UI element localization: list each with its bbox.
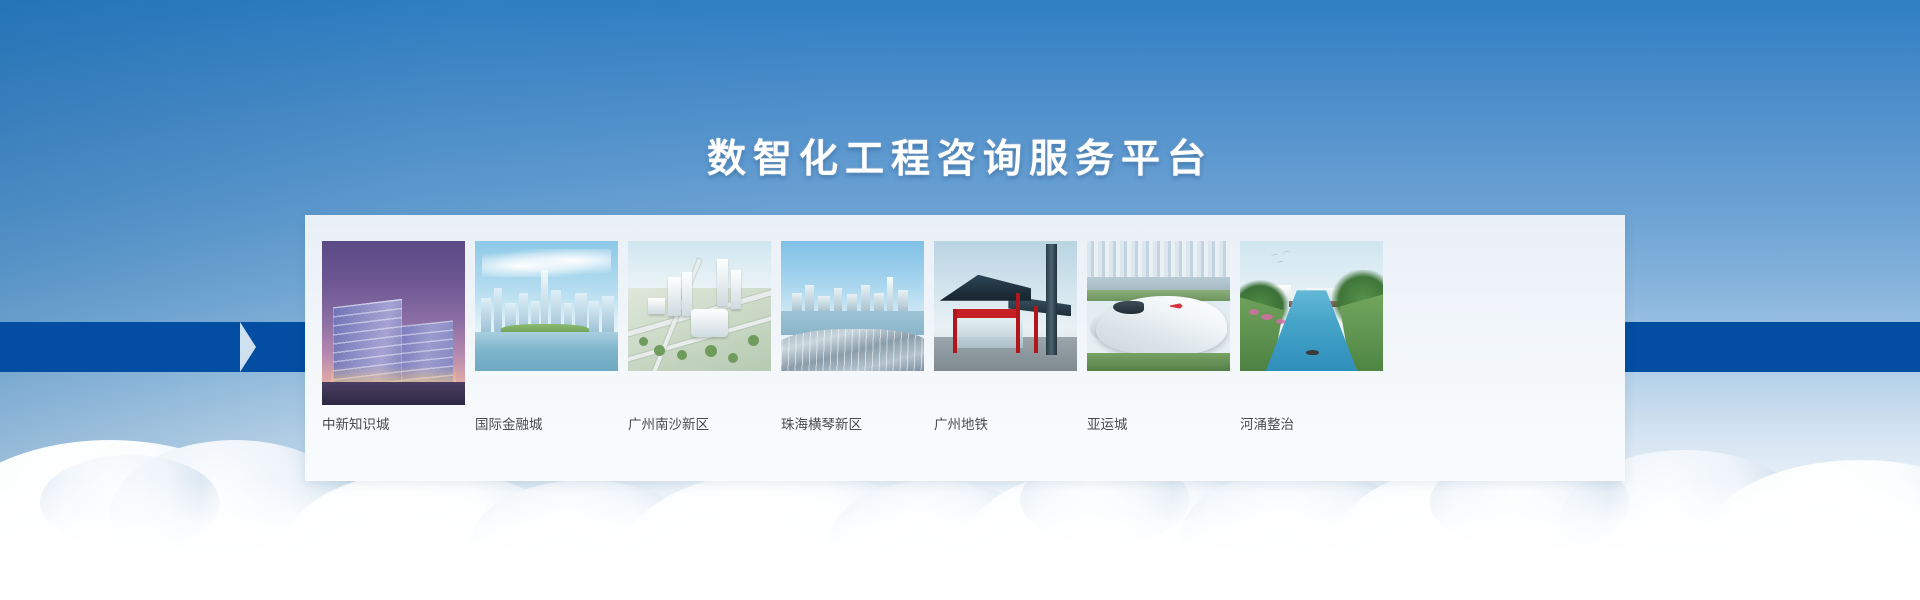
thumb-art-hengqin-waterfront [781,241,924,371]
band-arrow-icon [240,322,256,372]
gallery-thumb-2[interactable] [475,241,618,371]
gallery-thumb-1[interactable] [322,241,465,405]
gallery-thumb-4[interactable] [781,241,924,371]
gallery-caption-4: 珠海横琴新区 [781,413,862,433]
gallery-caption-2: 国际金融城 [475,413,543,433]
gallery-caption-6: 亚运城 [1087,413,1128,433]
gallery-thumb-6[interactable] [1087,241,1230,371]
gallery-caption-7: 河涌整治 [1240,413,1294,433]
thumb-art-river-restoration [1240,241,1383,371]
thumb-art-financial-city [475,241,618,371]
project-gallery-panel: 中新知识城 国际金融城 [305,215,1625,481]
gallery-caption-1: 中新知识城 [322,413,390,433]
thumb-art-nansha-masterplan [628,241,771,371]
page-title: 数智化工程咨询服务平台 [707,128,1213,184]
gallery-strip: 中新知识城 国际金融城 [305,215,1625,481]
gallery-thumb-5[interactable] [934,241,1077,371]
gallery-thumb-3[interactable] [628,241,771,371]
thumb-art-asian-games-city [1087,241,1230,371]
thumb-art-dusk-campus [322,241,465,405]
gallery-caption-5: 广州地铁 [934,413,988,433]
thumb-art-metro-station [934,241,1077,371]
gallery-caption-3: 广州南沙新区 [628,413,709,433]
page-title-wrap: 数智化工程咨询服务平台 [0,128,1920,184]
gallery-thumb-7[interactable] [1240,241,1383,371]
